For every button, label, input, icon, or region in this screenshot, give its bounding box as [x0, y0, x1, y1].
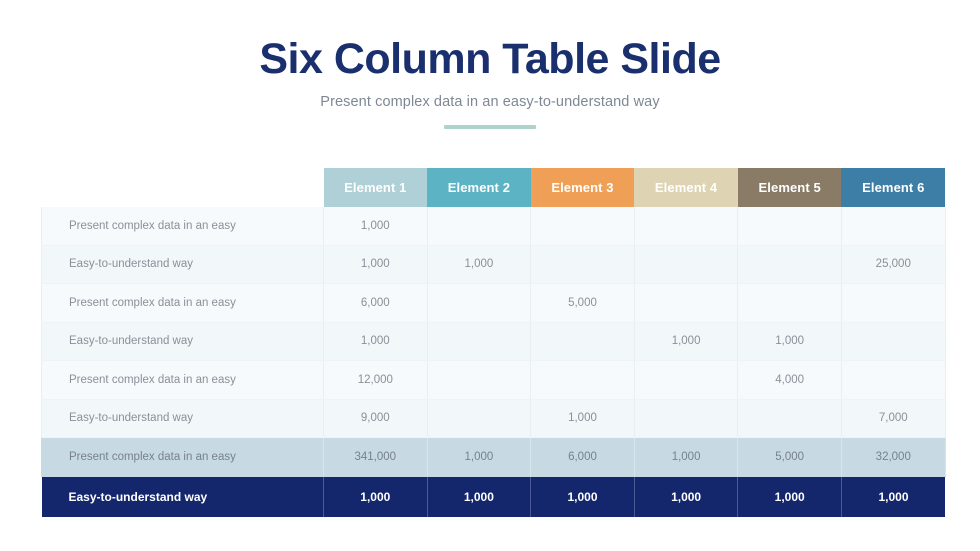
column-header-element-3[interactable]: Element 3 [531, 168, 635, 207]
row-label: Present complex data in an easy [42, 438, 324, 477]
cell-r6-element-6: 7,000 [841, 399, 945, 438]
cell-r2-element-3 [531, 245, 635, 284]
cell-r7-element-4: 1,000 [634, 438, 738, 477]
cell-r4-element-6 [841, 322, 945, 361]
cell-r5-element-4 [634, 361, 738, 400]
column-header-element-2[interactable]: Element 2 [427, 168, 531, 207]
table-body: Present complex data in an easy1,000Easy… [42, 207, 946, 517]
column-header-element-1[interactable]: Element 1 [324, 168, 428, 207]
cell-r5-element-6 [841, 361, 945, 400]
cell-r7-element-3: 6,000 [531, 438, 635, 477]
row-label: Easy-to-understand way [42, 399, 324, 438]
cell-r4-element-3 [531, 322, 635, 361]
column-header-element-4[interactable]: Element 4 [634, 168, 738, 207]
row-label: Present complex data in an easy [42, 284, 324, 323]
cell-r5-element-3 [531, 361, 635, 400]
table-header: Element 1 Element 2 Element 3 Element 4 … [42, 168, 946, 207]
cell-r5-element-1: 12,000 [324, 361, 428, 400]
row-label: Easy-to-understand way [42, 245, 324, 284]
cell-r2-element-1: 1,000 [324, 245, 428, 284]
cell-r4-element-2 [427, 322, 531, 361]
cell-r8-element-1: 1,000 [324, 476, 428, 517]
cell-r5-element-5: 4,000 [738, 361, 842, 400]
cell-r5-element-2 [427, 361, 531, 400]
page-subtitle: Present complex data in an easy-to-under… [0, 82, 980, 110]
cell-r8-element-2: 1,000 [427, 476, 531, 517]
cell-r6-element-1: 9,000 [324, 399, 428, 438]
cell-r2-element-5 [738, 245, 842, 284]
row-label: Easy-to-understand way [42, 322, 324, 361]
cell-r2-element-4 [634, 245, 738, 284]
row-label: Easy-to-understand way [42, 476, 324, 517]
cell-r7-element-1: 341,000 [324, 438, 428, 477]
cell-r7-element-6: 32,000 [841, 438, 945, 477]
cell-r3-element-1: 6,000 [324, 284, 428, 323]
column-header-element-6[interactable]: Element 6 [841, 168, 945, 207]
cell-r3-element-4 [634, 284, 738, 323]
cell-r7-element-2: 1,000 [427, 438, 531, 477]
cell-r8-element-5: 1,000 [738, 476, 842, 517]
cell-r1-element-2 [427, 207, 531, 245]
cell-r3-element-3: 5,000 [531, 284, 635, 323]
cell-r2-element-6: 25,000 [841, 245, 945, 284]
table-row[interactable]: Easy-to-understand way1,0001,0001,0001,0… [42, 476, 946, 517]
table-row[interactable]: Present complex data in an easy1,000 [42, 207, 946, 245]
cell-r3-element-5 [738, 284, 842, 323]
slide-canvas: Six Column Table Slide Present complex d… [0, 0, 980, 551]
table-row[interactable]: Present complex data in an easy12,0004,0… [42, 361, 946, 400]
cell-r4-element-1: 1,000 [324, 322, 428, 361]
six-column-table: Element 1 Element 2 Element 3 Element 4 … [41, 168, 946, 517]
cell-r8-element-3: 1,000 [531, 476, 635, 517]
table-row[interactable]: Easy-to-understand way1,0001,00025,000 [42, 245, 946, 284]
table-row[interactable]: Easy-to-understand way1,0001,0001,000 [42, 322, 946, 361]
cell-r6-element-4 [634, 399, 738, 438]
row-label: Present complex data in an easy [42, 207, 324, 245]
cell-r7-element-5: 5,000 [738, 438, 842, 477]
table-row[interactable]: Easy-to-understand way9,0001,0007,000 [42, 399, 946, 438]
cell-r1-element-4 [634, 207, 738, 245]
cell-r4-element-4: 1,000 [634, 322, 738, 361]
cell-r3-element-2 [427, 284, 531, 323]
column-header-element-5[interactable]: Element 5 [738, 168, 842, 207]
cell-r1-element-6 [841, 207, 945, 245]
cell-r6-element-2 [427, 399, 531, 438]
cell-r8-element-4: 1,000 [634, 476, 738, 517]
table-row[interactable]: Present complex data in an easy6,0005,00… [42, 284, 946, 323]
cell-r6-element-3: 1,000 [531, 399, 635, 438]
row-label: Present complex data in an easy [42, 361, 324, 400]
cell-r6-element-5 [738, 399, 842, 438]
cell-r2-element-2: 1,000 [427, 245, 531, 284]
table-header-row: Element 1 Element 2 Element 3 Element 4 … [42, 168, 946, 207]
page-title: Six Column Table Slide [0, 36, 980, 82]
table-row[interactable]: Present complex data in an easy341,0001,… [42, 438, 946, 477]
cell-r8-element-6: 1,000 [841, 476, 945, 517]
cell-r4-element-5: 1,000 [738, 322, 842, 361]
cell-r3-element-6 [841, 284, 945, 323]
table-corner-cell [42, 168, 324, 207]
cell-r1-element-3 [531, 207, 635, 245]
table-container: Element 1 Element 2 Element 3 Element 4 … [41, 168, 945, 517]
accent-divider [444, 125, 536, 129]
slide-header: Six Column Table Slide Present complex d… [0, 36, 980, 129]
cell-r1-element-1: 1,000 [324, 207, 428, 245]
cell-r1-element-5 [738, 207, 842, 245]
